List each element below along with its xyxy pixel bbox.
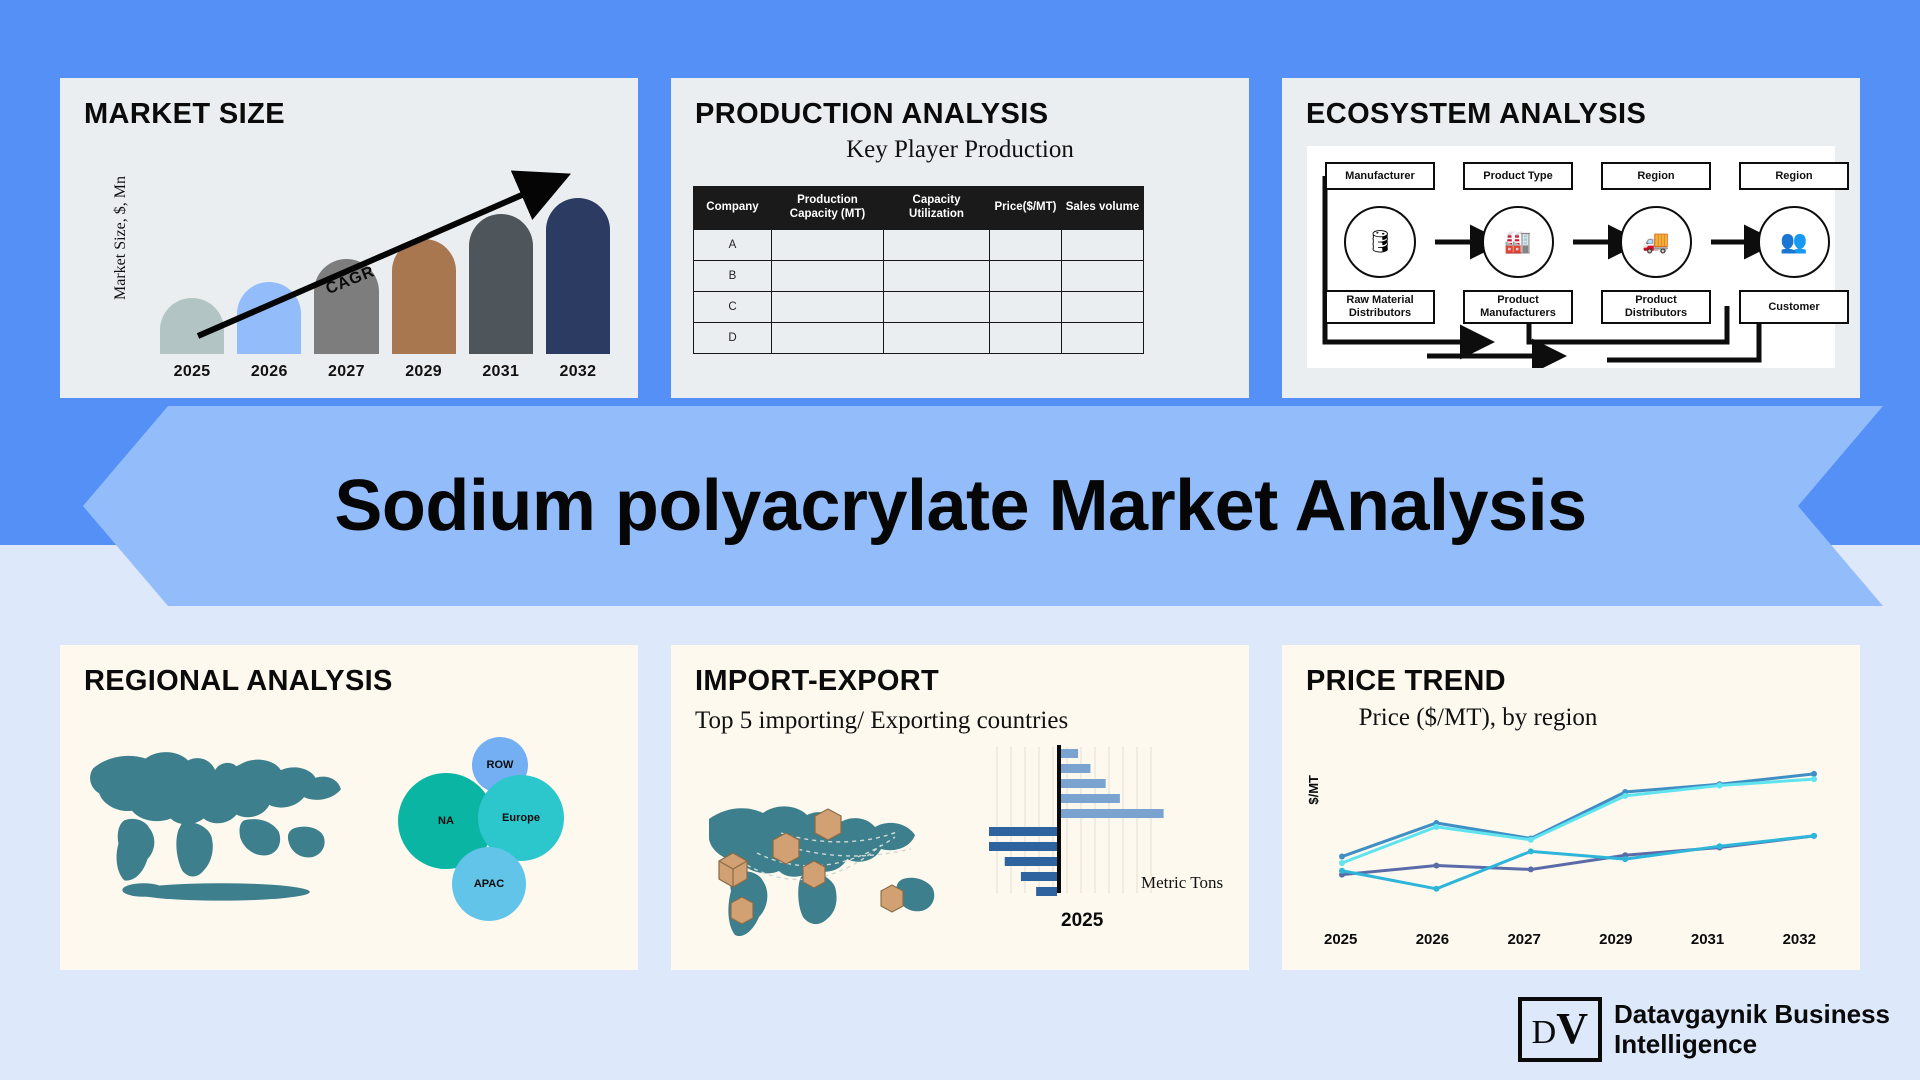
table-cell: D: [694, 322, 772, 353]
price-trend-x-axis: 202520262027202920312032: [1324, 931, 1816, 948]
table-cell: [1062, 322, 1144, 353]
import-bar: [1005, 857, 1057, 866]
metric-tons-label: Metric Tons: [1141, 873, 1223, 893]
import-bar: [989, 842, 1057, 851]
logo-letter-d: D: [1532, 1014, 1557, 1052]
trade-flow-map-icon: [685, 757, 1015, 947]
export-bar: [1061, 749, 1078, 758]
panel-regional-analysis: REGIONAL ANALYSIS ROWNAEuropeAPAC: [60, 645, 638, 970]
price-trend-data-point: [1717, 843, 1723, 849]
table-column-header: Sales volume: [1062, 187, 1144, 230]
logo-line-2: Intelligence: [1614, 1030, 1890, 1059]
table-column-header: Production Capacity (MT): [772, 187, 884, 230]
table-row: D: [694, 322, 1144, 353]
table-cell: [884, 260, 990, 291]
export-bar: [1061, 779, 1106, 788]
price-trend-series-line: [1342, 779, 1814, 863]
import-bar: [1021, 872, 1057, 881]
market-size-bar-group: 2025: [160, 179, 224, 354]
logo-letter-v: V: [1556, 1003, 1588, 1054]
price-trend-year-label: 2027: [1507, 931, 1540, 948]
panel-production-analysis: PRODUCTION ANALYSIS Key Player Productio…: [671, 78, 1249, 398]
price-trend-data-point: [1528, 848, 1534, 854]
bottom-cards-row: REGIONAL ANALYSIS ROWNAEuropeAPAC IMPORT…: [0, 645, 1920, 970]
ecosystem-analysis-title: ECOSYSTEM ANALYSIS: [1306, 98, 1646, 131]
logo-line-1: Datavgaynik Business: [1614, 1000, 1890, 1029]
ecosystem-bottom-box: Product Distributors: [1601, 290, 1711, 324]
table-cell: [1062, 229, 1144, 260]
production-analysis-title: PRODUCTION ANALYSIS: [695, 98, 1049, 131]
table-cell: A: [694, 229, 772, 260]
price-trend-title: PRICE TREND: [1306, 665, 1506, 698]
price-trend-data-point: [1433, 863, 1439, 869]
table-cell: [772, 322, 884, 353]
logo-wordmark: Datavgaynik Business Intelligence: [1614, 1000, 1890, 1058]
export-bar: [1061, 764, 1090, 773]
export-bar: [1061, 809, 1164, 818]
import-export-title: IMPORT-EXPORT: [695, 665, 939, 698]
table-row: C: [694, 291, 1144, 322]
ecosystem-diagram: Manufacturer🛢Raw Material DistributorsPr…: [1307, 146, 1835, 368]
export-bar: [1061, 794, 1120, 803]
market-size-year-label: 2025: [174, 363, 211, 381]
market-size-year-label: 2027: [328, 363, 365, 381]
price-trend-data-point: [1622, 856, 1628, 862]
banner-title-wrap: Sodium polyacrylate Market Analysis: [38, 406, 1883, 606]
price-trend-data-point: [1339, 868, 1345, 874]
table-cell: [990, 229, 1062, 260]
price-trend-data-point: [1528, 866, 1534, 872]
ecosystem-top-box: Region: [1739, 162, 1849, 190]
ecosystem-bottom-box: Raw Material Distributors: [1325, 290, 1435, 324]
ecosystem-top-box: Region: [1601, 162, 1711, 190]
price-trend-ylabel: $/MT: [1306, 775, 1321, 805]
table-column-header: Capacity Utilization: [884, 187, 990, 230]
factory-icon: 🏭: [1482, 206, 1554, 278]
price-trend-data-point: [1811, 771, 1817, 777]
price-trend-line-chart: [1324, 753, 1824, 913]
price-trend-data-point: [1811, 776, 1817, 782]
price-trend-data-point: [1339, 854, 1345, 860]
panel-market-size: MARKET SIZE Market Size, $, Mn 202520262…: [60, 78, 638, 398]
table-row: A: [694, 229, 1144, 260]
price-trend-subtitle: Price ($/MT), by region: [1328, 703, 1628, 733]
price-trend-data-point: [1811, 833, 1817, 839]
market-size-bar-group: 2029: [392, 179, 456, 354]
table-cell: [990, 260, 1062, 291]
table-cell: [884, 291, 990, 322]
world-map-icon: [74, 727, 364, 907]
market-size-ylabel: Market Size, $, Mn: [112, 176, 130, 300]
regional-analysis-title: REGIONAL ANALYSIS: [84, 665, 393, 698]
price-trend-year-label: 2029: [1599, 931, 1632, 948]
price-trend-data-point: [1339, 860, 1345, 866]
customers-icon: 👥: [1758, 206, 1830, 278]
table-cell: [1062, 291, 1144, 322]
key-player-production-table: CompanyProduction Capacity (MT)Capacity …: [693, 186, 1144, 354]
market-size-bar: [546, 198, 610, 354]
market-size-year-label: 2032: [560, 363, 597, 381]
panel-import-export: IMPORT-EXPORT Top 5 importing/ Exporting…: [671, 645, 1249, 970]
market-size-bar: [469, 214, 533, 354]
market-size-bar-group: 2031: [469, 179, 533, 354]
market-size-bar-group: 2032: [546, 179, 610, 354]
region-bubble: APAC: [452, 847, 526, 921]
market-size-title: MARKET SIZE: [84, 98, 285, 131]
market-size-year-label: 2026: [251, 363, 288, 381]
table-body: ABCD: [694, 229, 1144, 353]
page-title: Sodium polyacrylate Market Analysis: [334, 465, 1586, 547]
price-trend-year-label: 2025: [1324, 931, 1357, 948]
market-size-bar: [392, 239, 456, 354]
table-cell: C: [694, 291, 772, 322]
table-column-header: Company: [694, 187, 772, 230]
price-trend-year-label: 2032: [1783, 931, 1816, 948]
drums-icon: 🛢: [1344, 206, 1416, 278]
table-cell: [1062, 260, 1144, 291]
price-trend-year-label: 2031: [1691, 931, 1724, 948]
table-cell: [772, 229, 884, 260]
market-size-bar: [237, 282, 301, 354]
table-cell: [990, 322, 1062, 353]
top-cards-row: MARKET SIZE Market Size, $, Mn 202520262…: [0, 78, 1920, 398]
price-trend-year-label: 2026: [1416, 931, 1449, 948]
logo-mark-dv: D V: [1518, 997, 1602, 1062]
panel-ecosystem-analysis: ECOSYSTEM ANALYSIS Manufacturer🛢Raw Mate…: [1282, 78, 1860, 398]
market-size-year-label: 2029: [405, 363, 442, 381]
table-cell: [772, 291, 884, 322]
table-header-row: CompanyProduction Capacity (MT)Capacity …: [694, 187, 1144, 230]
market-size-year-label: 2031: [482, 363, 519, 381]
price-trend-data-point: [1433, 824, 1439, 830]
table-cell: B: [694, 260, 772, 291]
import-export-subtitle: Top 5 importing/ Exporting countries: [695, 707, 1068, 735]
panel-price-trend: PRICE TREND Price ($/MT), by region $/MT…: [1282, 645, 1860, 970]
market-size-chart: Market Size, $, Mn 202520262027202920312…: [118, 164, 623, 384]
price-trend-data-point: [1528, 837, 1534, 843]
distribution-network-icon: 🚚: [1620, 206, 1692, 278]
table-cell: [884, 322, 990, 353]
price-trend-data-point: [1622, 793, 1628, 799]
price-trend-data-point: [1717, 783, 1723, 789]
production-analysis-subtitle: Key Player Production: [671, 136, 1249, 164]
table-cell: [884, 229, 990, 260]
market-size-bar-group: 2026: [237, 179, 301, 354]
table-row: B: [694, 260, 1144, 291]
ecosystem-top-box: Product Type: [1463, 162, 1573, 190]
ecosystem-bottom-box: Customer: [1739, 290, 1849, 324]
ecosystem-bottom-box: Product Manufacturers: [1463, 290, 1573, 324]
table-cell: [772, 260, 884, 291]
market-size-bar: [160, 298, 224, 354]
price-trend-data-point: [1433, 886, 1439, 892]
import-bar: [989, 827, 1057, 836]
import-bar: [1036, 887, 1057, 896]
import-export-base-year: 2025: [1061, 910, 1103, 932]
table-column-header: Price($/MT): [990, 187, 1062, 230]
table-cell: [990, 291, 1062, 322]
market-size-bars: 202520262027202920312032: [160, 179, 610, 354]
ecosystem-top-box: Manufacturer: [1325, 162, 1435, 190]
brand-logo: D V Datavgaynik Business Intelligence: [1518, 997, 1890, 1062]
